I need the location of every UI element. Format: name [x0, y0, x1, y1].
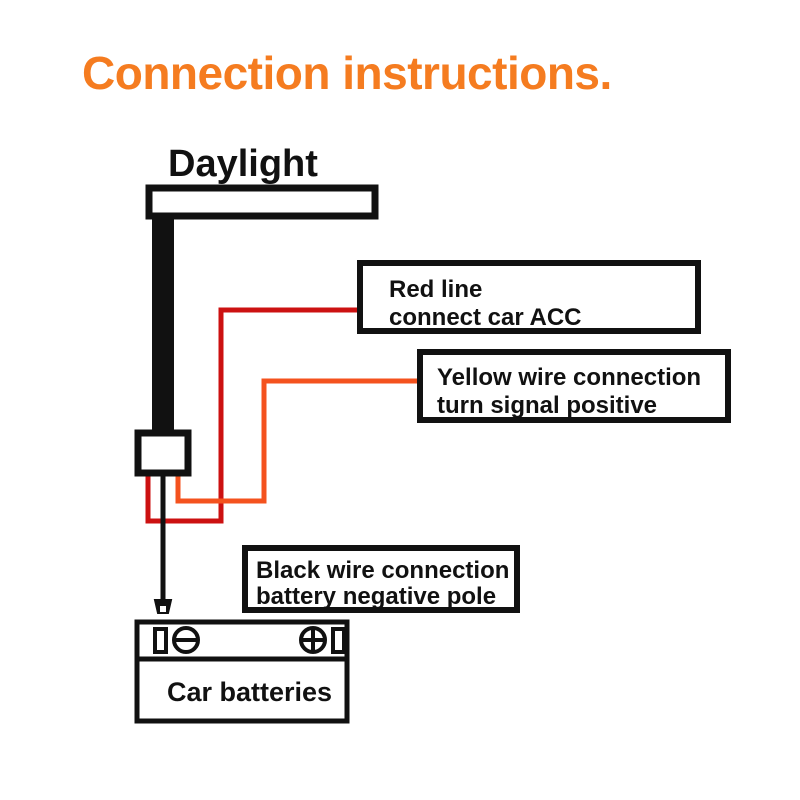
callout-yellow-line-1: Yellow wire connection	[437, 364, 701, 391]
ring-terminal-hole	[160, 606, 166, 612]
daylight-lamp-bar	[149, 188, 375, 216]
daylight-label: Daylight	[168, 143, 318, 185]
page-title: Connection instructions.	[82, 47, 612, 99]
callout-black-line-1: Black wire connection	[256, 557, 509, 584]
wiring-diagram: Connection instructions. Daylight Red li…	[0, 0, 800, 800]
callout-yellow-line-2: turn signal positive	[437, 392, 657, 419]
callout-red-line-2: connect car ACC	[389, 304, 582, 331]
callout-red-line-1: Red line	[389, 276, 482, 303]
callout-black-line-2: battery negative pole	[256, 583, 496, 610]
connector-box	[138, 433, 188, 473]
battery-cell-cap-right	[333, 629, 344, 652]
battery-label: Car batteries	[167, 677, 332, 707]
battery-cell-cap-left	[155, 629, 166, 652]
diagram-page: Connection instructions. Daylight Red li…	[0, 0, 800, 800]
